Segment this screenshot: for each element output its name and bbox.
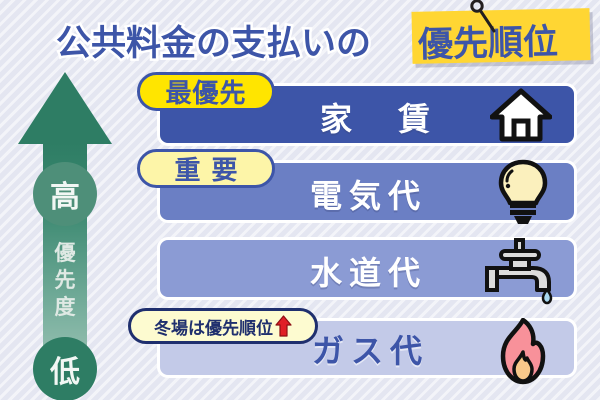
up-arrow-icon [18, 72, 112, 144]
row-label-rent: 家 賃 [320, 94, 437, 140]
priority-axis-label: 優先度 [49, 240, 81, 321]
tag-winter-note[interactable]: 冬場は優先順位 [128, 308, 318, 344]
pointer-line-icon [470, 0, 500, 34]
house-icon [490, 88, 552, 142]
red-up-arrow-icon [275, 315, 292, 337]
infographic-canvas: 公共料金の支払いの 優先順位 高 優先度 低 家 賃 最優先 電気代 重要 水道… [0, 0, 600, 400]
page-title: 公共料金の支払いの 優先順位 [0, 4, 600, 66]
priority-arrow: 高 優先度 低 [18, 72, 112, 392]
flame-icon [495, 318, 551, 386]
tag-winter-note-label: 冬場は優先順位 [154, 314, 273, 339]
tag-important[interactable]: 重要 [137, 149, 275, 188]
row-label-electricity: 電気代 [310, 171, 427, 217]
row-label-water: 水道代 [310, 248, 427, 294]
row-label-gas: ガス代 [312, 326, 429, 372]
title-main-text: 公共料金の支払いの [56, 15, 371, 66]
priority-high-badge: 高 [33, 162, 97, 226]
faucet-icon [483, 236, 561, 308]
tag-top-priority[interactable]: 最優先 [137, 72, 275, 111]
priority-low-badge: 低 [33, 337, 97, 400]
lightbulb-icon [497, 158, 549, 226]
